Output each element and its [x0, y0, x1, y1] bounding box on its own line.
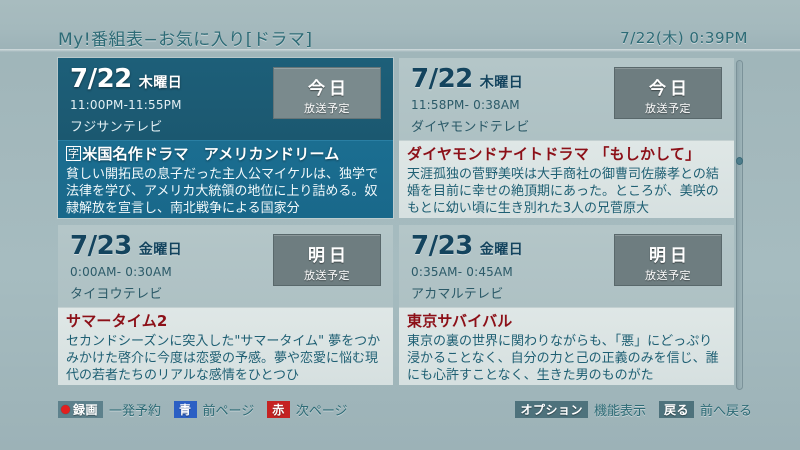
status-badge-main: 今日 — [615, 74, 721, 99]
program-card[interactable]: 7/22木曜日 11:00PM-11:55PM フジサンテレビ 今日 放送予定 … — [58, 58, 393, 218]
program-title: 米国名作ドラマ アメリカンドリーム — [82, 145, 339, 163]
program-grid: 7/22木曜日 11:00PM-11:55PM フジサンテレビ 今日 放送予定 … — [58, 58, 734, 391]
record-dot-icon — [61, 405, 70, 414]
program-title: サマータイム2 — [66, 312, 168, 330]
status-badge: 今日 放送予定 — [614, 67, 722, 119]
page-title: My!番組表−お気に入り[ドラマ] — [58, 25, 313, 50]
status-badge: 明日 放送予定 — [273, 234, 381, 286]
status-badge-sub: 放送予定 — [274, 100, 380, 116]
hint-next-page[interactable]: 赤 次ページ — [267, 400, 347, 419]
card-schedule: 7/22木曜日 11:58PM- 0:38AM ダイヤモンドテレビ 今日 放送予… — [399, 58, 734, 140]
clock: 7/22(木) 0:39PM — [620, 27, 748, 48]
record-key-label: 録画 — [73, 401, 98, 418]
card-day-of-week: 金曜日 — [480, 239, 524, 259]
program-synopsis: 東京の裏の世界に関わりながらも、「悪」にどっぷり浸かることなく、自分の力と己の正… — [407, 333, 724, 384]
card-day-of-week: 木曜日 — [480, 72, 524, 92]
status-badge-sub: 放送予定 — [615, 267, 721, 283]
card-schedule: 7/23金曜日 0:35AM- 0:45AM アカマルテレビ 明日 放送予定 — [399, 225, 734, 307]
remote-hint-bar: 録画 一発予約 青 前ページ 赤 次ページ オプション 機能表示 戻る 前へ戻る — [0, 398, 800, 426]
hint-next-page-label: 次ページ — [296, 400, 348, 419]
hint-back-label: 前へ戻る — [700, 400, 752, 419]
program-title-row: サマータイム2 — [66, 312, 383, 331]
card-description: 字米国名作ドラマ アメリカンドリーム 貧しい開拓民の息子だった主人公マイケルは、… — [58, 140, 393, 218]
card-description: ダイヤモンドナイトドラマ 「もしかして」 天涯孤独の菅野美咲は大手商社の御曹司佐… — [399, 140, 734, 218]
header-bar: My!番組表−お気に入り[ドラマ] 7/22(木) 0:39PM — [0, 0, 800, 52]
epg-screen: My!番組表−お気に入り[ドラマ] 7/22(木) 0:39PM 7/22木曜日… — [0, 0, 800, 450]
card-description: 東京サバイバル 東京の裏の世界に関わりながらも、「悪」にどっぷり浸かることなく、… — [399, 307, 734, 385]
hint-record-label: 一発予約 — [109, 400, 161, 419]
card-date: 7/22 — [411, 66, 473, 92]
program-title: ダイヤモンドナイトドラマ 「もしかして」 — [407, 145, 700, 163]
red-key-badge: 赤 — [267, 401, 290, 418]
back-key-badge: 戻る — [659, 401, 694, 418]
program-card[interactable]: 7/23金曜日 0:35AM- 0:45AM アカマルテレビ 明日 放送予定 東… — [399, 225, 734, 385]
status-badge: 今日 放送予定 — [273, 67, 381, 119]
hint-option[interactable]: オプション 機能表示 — [515, 400, 646, 419]
program-title-row: ダイヤモンドナイトドラマ 「もしかして」 — [407, 145, 724, 164]
card-description: サマータイム2 セカンドシーズンに突入した"サマータイム" 夢をつかみかけた啓介… — [58, 307, 393, 385]
card-day-of-week: 木曜日 — [139, 72, 183, 92]
hint-option-label: 機能表示 — [594, 400, 646, 419]
hint-prev-page[interactable]: 青 前ページ — [174, 400, 254, 419]
status-badge-sub: 放送予定 — [615, 100, 721, 116]
hint-back[interactable]: 戻る 前へ戻る — [659, 400, 752, 419]
blue-key-badge: 青 — [174, 401, 197, 418]
program-card[interactable]: 7/23金曜日 0:00AM- 0:30AM タイヨウテレビ 明日 放送予定 サ… — [58, 225, 393, 385]
program-title-row: 字米国名作ドラマ アメリカンドリーム — [66, 145, 383, 164]
program-synopsis: セカンドシーズンに突入した"サマータイム" 夢をつかみかけた啓介に今度は恋愛の予… — [66, 333, 383, 384]
card-schedule: 7/22木曜日 11:00PM-11:55PM フジサンテレビ 今日 放送予定 — [58, 58, 393, 140]
hint-record[interactable]: 録画 一発予約 — [58, 400, 161, 419]
card-day-of-week: 金曜日 — [139, 239, 183, 259]
card-date: 7/22 — [70, 66, 132, 92]
hints-left-group: 録画 一発予約 青 前ページ 赤 次ページ — [58, 398, 348, 420]
card-date: 7/23 — [411, 233, 473, 259]
scrollbar-thumb[interactable] — [736, 157, 743, 165]
record-key-badge: 録画 — [58, 401, 103, 418]
status-badge-main: 明日 — [615, 241, 721, 266]
status-badge-main: 明日 — [274, 241, 380, 266]
status-badge-sub: 放送予定 — [274, 267, 380, 283]
status-badge: 明日 放送予定 — [614, 234, 722, 286]
card-date: 7/23 — [70, 233, 132, 259]
program-synopsis: 天涯孤独の菅野美咲は大手商社の御曹司佐藤孝との結婚を目前に幸せの絶頂期にあった。… — [407, 166, 724, 217]
option-key-badge: オプション — [515, 401, 588, 418]
program-synopsis: 貧しい開拓民の息子だった主人公マイケルは、独学で法律を学び、アメリカ大統領の地位… — [66, 166, 383, 217]
closed-caption-icon: 字 — [66, 146, 81, 161]
hints-right-group: オプション 機能表示 戻る 前へ戻る — [515, 398, 752, 420]
vertical-scrollbar[interactable] — [736, 60, 743, 390]
card-schedule: 7/23金曜日 0:00AM- 0:30AM タイヨウテレビ 明日 放送予定 — [58, 225, 393, 307]
header-divider — [0, 49, 800, 52]
program-card[interactable]: 7/22木曜日 11:58PM- 0:38AM ダイヤモンドテレビ 今日 放送予… — [399, 58, 734, 218]
program-title: 東京サバイバル — [407, 312, 513, 330]
program-title-row: 東京サバイバル — [407, 312, 724, 331]
status-badge-main: 今日 — [274, 74, 380, 99]
hint-prev-page-label: 前ページ — [203, 400, 255, 419]
